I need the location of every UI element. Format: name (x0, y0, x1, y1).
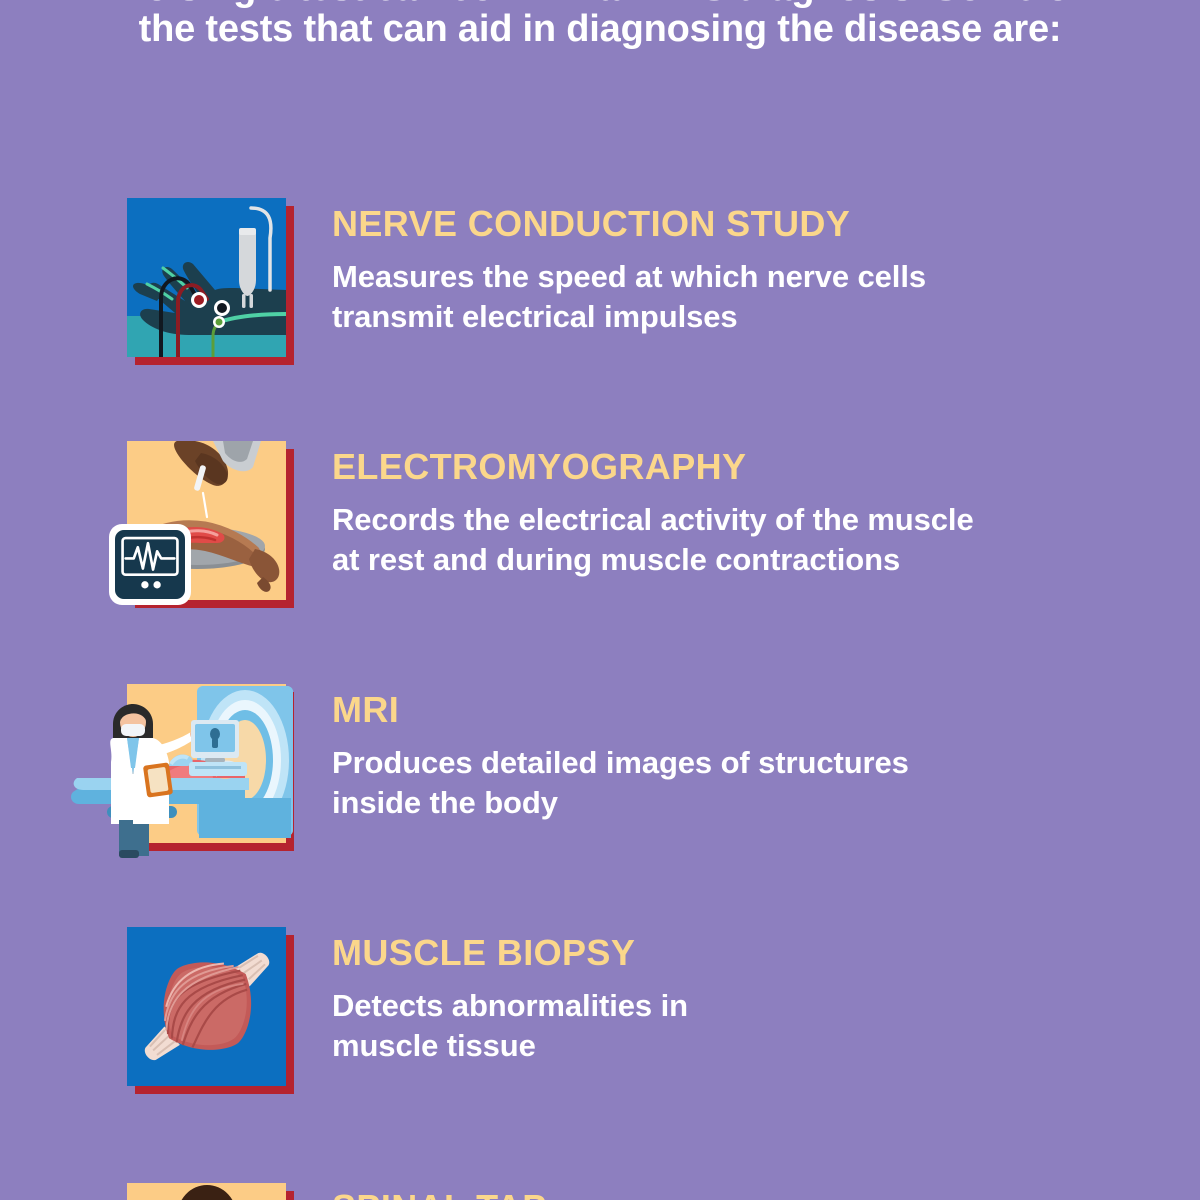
item-description-line-1: Produces detailed images of structures (332, 743, 1200, 783)
thumbnail-column (0, 904, 332, 1147)
tile-background (127, 1183, 286, 1200)
item-description-line-2: at rest and during muscle contractions (332, 540, 1200, 580)
patient-head-icon (127, 1183, 286, 1200)
thumbnail-column (0, 175, 332, 418)
list-item-partial: SPINAL TAP (0, 1183, 1200, 1200)
thumbnail-muscle-biopsy (127, 927, 286, 1086)
page-header: No single test can confirm an ALS diagno… (0, 0, 1200, 50)
item-description-line-2: muscle tissue (332, 1026, 1200, 1066)
ecg-monitor-screen (115, 530, 185, 599)
list-item: MRI Produces detailed images of structur… (0, 661, 1200, 904)
diagnostic-test-list: NERVE CONDUCTION STUDY Measures the spee… (0, 175, 1200, 1147)
mri-scanner-icon (49, 678, 299, 858)
text-column: ELECTROMYOGRAPHY Records the electrical … (332, 418, 1200, 580)
text-column: MRI Produces detailed images of structur… (332, 661, 1200, 823)
thumbnail-nerve-conduction-study (127, 198, 286, 357)
item-description-line-1: Measures the speed at which nerve cells (332, 257, 1200, 297)
muscle-fiber-icon (127, 927, 286, 1086)
header-line-2: the tests that can aid in diagnosing the… (60, 9, 1140, 50)
item-description-line-2: transmit electrical impulses (332, 297, 1200, 337)
thumbnail-spinal-tap (127, 1183, 286, 1200)
thumbnail-mri (127, 684, 286, 843)
ecg-monitor-icon (109, 524, 191, 605)
item-title: NERVE CONDUCTION STUDY (332, 203, 1200, 245)
item-title: SPINAL TAP (332, 1187, 547, 1200)
item-title: MRI (332, 689, 1200, 731)
list-item: NERVE CONDUCTION STUDY Measures the spee… (0, 175, 1200, 418)
tile-background (127, 684, 286, 843)
tile-background (127, 198, 286, 357)
thumbnail-column (0, 661, 332, 904)
item-description-line-1: Detects abnormalities in (332, 986, 1200, 1026)
tile-background (127, 927, 286, 1086)
item-description-line-1: Records the electrical activity of the m… (332, 500, 1200, 540)
hand-with-electrodes-icon (127, 198, 286, 357)
text-column: NERVE CONDUCTION STUDY Measures the spee… (332, 175, 1200, 337)
list-item: MUSCLE BIOPSY Detects abnormalities in m… (0, 904, 1200, 1147)
item-description-line-2: inside the body (332, 783, 1200, 823)
text-column: MUSCLE BIOPSY Detects abnormalities in m… (332, 904, 1200, 1066)
item-title: MUSCLE BIOPSY (332, 932, 1200, 974)
ecg-waveform-icon (118, 533, 182, 596)
item-title: ELECTROMYOGRAPHY (332, 446, 1200, 488)
